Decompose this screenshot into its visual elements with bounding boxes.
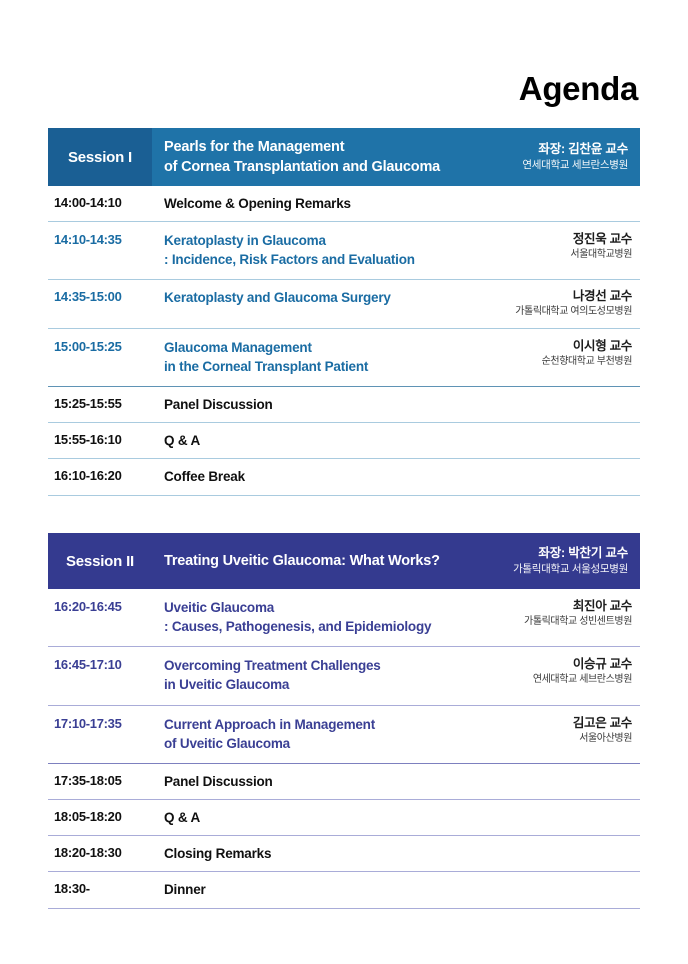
session-chair-name-2: 좌장: 박찬기 교수 (513, 545, 628, 562)
agenda-row-topic-line: Glaucoma Management (164, 338, 452, 357)
agenda-row-time: 18:30- (48, 880, 152, 897)
agenda-row-time: 14:10-14:35 (48, 231, 152, 248)
agenda-row-topic-line: Dinner (164, 880, 452, 899)
agenda-row-topic: Keratoplasty and Glaucoma Surgery (152, 288, 460, 307)
agenda-row-speaker: 이시형 교수순천향대학교 부천병원 (460, 338, 640, 369)
agenda-row: 17:35-18:05Panel Discussion (48, 764, 640, 800)
session-chair-1: 좌장: 김찬윤 교수 연세대학교 세브란스병원 (522, 141, 640, 173)
agenda-row-topic: Dinner (152, 880, 460, 899)
agenda-row: 16:20-16:45Uveitic Glaucoma: Causes, Pat… (48, 589, 640, 647)
agenda-row-speaker-affiliation: 가톨릭대학교 성빈센트병원 (460, 615, 632, 630)
agenda-row-time: 15:25-15:55 (48, 395, 152, 412)
session-title-line: Pearls for the Management (164, 137, 522, 157)
agenda-row-speaker-name: 이승규 교수 (460, 656, 632, 673)
agenda-row-topic: Closing Remarks (152, 844, 460, 863)
session-rows-1: 14:00-14:10Welcome & Opening Remarks14:1… (48, 186, 640, 496)
agenda-row-speaker-affiliation: 가톨릭대학교 여의도성모병원 (460, 305, 632, 320)
agenda-row: 14:00-14:10Welcome & Opening Remarks (48, 186, 640, 222)
session-chair-2: 좌장: 박찬기 교수 가톨릭대학교 서울성모병원 (513, 545, 640, 577)
page-title: Agenda (519, 72, 638, 105)
session-block-2: Session II Treating Uveitic Glaucoma: Wh… (48, 533, 640, 909)
agenda-row-time: 16:10-16:20 (48, 467, 152, 484)
agenda-row-speaker-affiliation: 연세대학교 세브란스병원 (460, 673, 632, 688)
agenda-row-time: 14:00-14:10 (48, 194, 152, 211)
agenda-row-topic: Overcoming Treatment Challengesin Uveiti… (152, 656, 460, 694)
agenda-row: 16:10-16:20Coffee Break (48, 459, 640, 495)
agenda-row: 17:10-17:35Current Approach in Managemen… (48, 706, 640, 764)
agenda-row-topic-line: of Uveitic Glaucoma (164, 734, 452, 753)
agenda-row-topic: Q & A (152, 808, 460, 827)
agenda-row: 18:20-18:30Closing Remarks (48, 836, 640, 872)
session-block-1: Session I Pearls for the Managementof Co… (48, 128, 640, 496)
agenda-row-topic-line: Panel Discussion (164, 772, 452, 791)
agenda-row: 14:35-15:00Keratoplasty and Glaucoma Sur… (48, 280, 640, 328)
agenda-row-time: 15:55-16:10 (48, 431, 152, 448)
agenda-row-topic-line: Panel Discussion (164, 395, 452, 414)
agenda-row-topic: Uveitic Glaucoma: Causes, Pathogenesis, … (152, 598, 460, 636)
agenda-row-topic: Panel Discussion (152, 772, 460, 791)
agenda-row: 15:00-15:25Glaucoma Managementin the Cor… (48, 329, 640, 387)
agenda-row-speaker: 정진욱 교수서울대학교병원 (460, 231, 640, 262)
agenda-row-topic: Coffee Break (152, 467, 460, 486)
agenda-row-time: 15:00-15:25 (48, 338, 152, 355)
session-chair-affiliation-2: 가톨릭대학교 서울성모병원 (513, 562, 628, 577)
agenda-row-speaker-name: 나경선 교수 (460, 288, 632, 305)
agenda-row-topic-line: in Uveitic Glaucoma (164, 675, 452, 694)
session-title-1: Pearls for the Managementof Cornea Trans… (152, 137, 522, 177)
agenda-row-speaker-affiliation: 서울대학교병원 (460, 248, 632, 263)
session-header-2: Session II Treating Uveitic Glaucoma: Wh… (48, 533, 640, 589)
agenda-row-topic: Keratoplasty in Glaucoma: Incidence, Ris… (152, 231, 460, 269)
agenda-row-speaker: 김고은 교수서울아산병원 (460, 715, 640, 746)
agenda-row-time: 16:45-17:10 (48, 656, 152, 673)
agenda-row-topic-line: Welcome & Opening Remarks (164, 194, 452, 213)
agenda-row-topic-line: Overcoming Treatment Challenges (164, 656, 452, 675)
agenda-row-topic-line: in the Corneal Transplant Patient (164, 357, 452, 376)
session-title-2: Treating Uveitic Glaucoma: What Works? (152, 551, 513, 571)
agenda-row-topic-line: Current Approach in Management (164, 715, 452, 734)
agenda-row-time: 17:35-18:05 (48, 772, 152, 789)
agenda-row: 14:10-14:35Keratoplasty in Glaucoma: Inc… (48, 222, 640, 280)
agenda-row-time: 16:20-16:45 (48, 598, 152, 615)
agenda-row-topic-line: Closing Remarks (164, 844, 452, 863)
agenda-row-speaker: 최진아 교수가톨릭대학교 성빈센트병원 (460, 598, 640, 629)
agenda-row: 18:30-Dinner (48, 872, 640, 908)
agenda-row-speaker: 나경선 교수가톨릭대학교 여의도성모병원 (460, 288, 640, 319)
agenda-row-speaker-affiliation: 서울아산병원 (460, 732, 632, 747)
agenda-row-speaker-affiliation: 순천향대학교 부천병원 (460, 355, 632, 370)
session-title-line: Treating Uveitic Glaucoma: What Works? (164, 551, 513, 571)
agenda-row-topic-line: Q & A (164, 808, 452, 827)
agenda-row-topic: Panel Discussion (152, 395, 460, 414)
agenda-row: 15:55-16:10Q & A (48, 423, 640, 459)
agenda-row-topic: Q & A (152, 431, 460, 450)
agenda-row-speaker: 이승규 교수연세대학교 세브란스병원 (460, 656, 640, 687)
agenda-row-topic: Glaucoma Managementin the Corneal Transp… (152, 338, 460, 376)
agenda-row: 16:45-17:10Overcoming Treatment Challeng… (48, 647, 640, 705)
session-title-line: of Cornea Transplantation and Glaucoma (164, 157, 522, 177)
agenda-row: 18:05-18:20Q & A (48, 800, 640, 836)
agenda-page: Agenda Session I Pearls for the Manageme… (0, 0, 688, 964)
session-tag-1: Session I (48, 128, 152, 186)
agenda-row-topic-line: Uveitic Glaucoma (164, 598, 452, 617)
agenda-row-time: 18:05-18:20 (48, 808, 152, 825)
session-chair-affiliation-1: 연세대학교 세브란스병원 (522, 158, 628, 173)
agenda-row-time: 14:35-15:00 (48, 288, 152, 305)
session-rows-2: 16:20-16:45Uveitic Glaucoma: Causes, Pat… (48, 589, 640, 909)
agenda-row-topic: Welcome & Opening Remarks (152, 194, 460, 213)
agenda-row-speaker-name: 이시형 교수 (460, 338, 632, 355)
session-tag-2: Session II (48, 533, 152, 589)
agenda-row-topic: Current Approach in Managementof Uveitic… (152, 715, 460, 753)
agenda-row-time: 18:20-18:30 (48, 844, 152, 861)
agenda-row-time: 17:10-17:35 (48, 715, 152, 732)
agenda-row-topic-line: Keratoplasty in Glaucoma (164, 231, 452, 250)
session-header-1: Session I Pearls for the Managementof Co… (48, 128, 640, 186)
agenda-row-speaker-name: 최진아 교수 (460, 598, 632, 615)
agenda-row-topic-line: Keratoplasty and Glaucoma Surgery (164, 288, 452, 307)
agenda-row-topic-line: : Causes, Pathogenesis, and Epidemiology (164, 617, 452, 636)
agenda-row-topic-line: Coffee Break (164, 467, 452, 486)
agenda-row-topic-line: Q & A (164, 431, 452, 450)
agenda-row: 15:25-15:55Panel Discussion (48, 387, 640, 423)
agenda-row-speaker-name: 정진욱 교수 (460, 231, 632, 248)
session-chair-name-1: 좌장: 김찬윤 교수 (522, 141, 628, 158)
agenda-row-topic-line: : Incidence, Risk Factors and Evaluation (164, 250, 452, 269)
agenda-row-speaker-name: 김고은 교수 (460, 715, 632, 732)
